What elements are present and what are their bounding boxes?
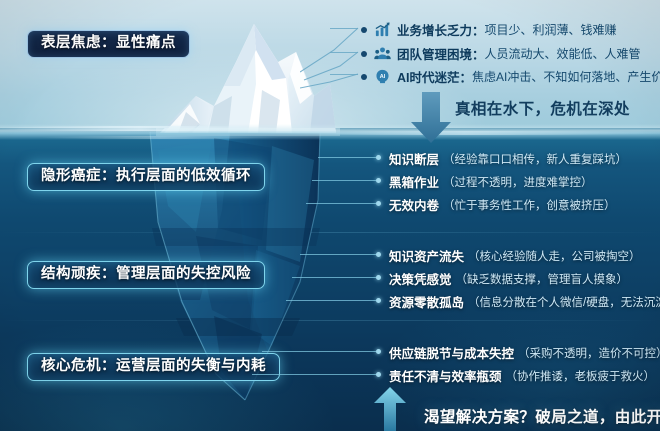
connector-line [306,203,376,204]
connector-dot [376,252,381,257]
growth-chart-icon [374,21,391,38]
arrow-up-icon [370,386,410,431]
structural-point-2[interactable]: 资源零散孤岛 （信息分散在个人微信/硬盘，无法沉淀） [389,292,660,311]
hidden-point-0[interactable]: 知识断层 （经验靠口口相传，新人重复踩坑） [389,149,627,168]
connector-line [312,180,376,181]
core-point-0-title: 供应链脱节与成本失控 [389,343,514,362]
hidden-point-1[interactable]: 黑箱作业 （过程不透明，进度难掌控） [389,172,593,191]
underwater-headline: 真相在水下，危机在深处 [455,97,630,119]
svg-text:AI: AI [380,74,386,80]
connector-line [330,52,358,53]
connector-dot [376,372,381,377]
hidden-point-2[interactable]: 无效内卷 （忙于事务性工作，创意被挤压） [389,195,616,214]
surface-point-1-title: 团队管理困境： [397,44,485,63]
infographic-canvas: 表层焦虑：显性痛点 隐形癌症：执行层面的低效循环 结构顽疾：管理层面的失控风险 … [0,0,660,431]
surface-point-0-title: 业务增长乏力： [397,20,485,39]
hidden-point-1-desc: （过程不透明，进度难掌控） [443,174,593,190]
connector-dot [376,178,381,183]
surface-point-1-desc: 人员流动大、效能低、人难管 [485,45,641,62]
surface-point-0-desc: 项目少、利润薄、钱难赚 [485,21,617,38]
core-point-1[interactable]: 责任不清与效率瓶颈 （协作推诿，老板疲于救火） [389,366,655,385]
arrow-down-icon [409,92,453,144]
structural-point-1-desc: （缺乏数据支撑，管理盲人摸象） [456,271,629,287]
connector-line [262,351,376,352]
connector-line [252,374,376,375]
structural-point-0-desc: （核心经验随人走，公司被掏空） [468,248,641,264]
connector-line [330,74,358,75]
badge-core-crisis[interactable]: 核心危机：运营层面的失衡与内耗 [27,353,280,381]
connector-dot [376,298,381,303]
wave-crest [0,126,290,131]
surface-point-0[interactable]: 业务增长乏力： 项目少、利润薄、钱难赚 [361,20,617,39]
bullet-dot [361,74,367,80]
badge-hidden-cancer-label: 隐形癌症：执行层面的低效循环 [41,169,251,184]
structural-point-0[interactable]: 知识资产流失 （核心经验随人走，公司被掏空） [389,246,641,265]
core-point-1-desc: （协作推诿，老板疲于救火） [506,368,656,384]
connector-line [292,277,376,278]
connector-line [300,254,376,255]
badge-core-crisis-label: 核心危机：运营层面的失衡与内耗 [41,359,266,374]
wave-crest [250,131,660,135]
structural-point-2-title: 资源零散孤岛 [389,292,464,311]
wave-crest [40,136,280,139]
badge-structural-ailment-label: 结构顽疾：管理层面的失控风险 [41,267,251,282]
bullet-dot [361,51,367,57]
surface-point-1[interactable]: 团队管理困境： 人员流动大、效能低、人难管 [361,44,641,63]
core-point-0-desc: （采购不透明，造价不可控） [518,345,660,361]
connector-line [330,28,358,29]
core-point-1-title: 责任不清与效率瓶颈 [389,366,502,385]
structural-point-1[interactable]: 决策凭感觉 （缺乏数据支撑，管理盲人摸象） [389,269,628,288]
structural-point-1-title: 决策凭感觉 [389,269,452,288]
surface-point-2-title: AI时代迷茫： [397,67,472,86]
hidden-point-2-desc: （忙于事务性工作，创意被挤压） [443,197,616,213]
hidden-point-1-title: 黑箱作业 [389,172,439,191]
badge-structural-ailment[interactable]: 结构顽疾：管理层面的失控风险 [27,261,265,289]
connector-dot [376,201,381,206]
core-point-0[interactable]: 供应链脱节与成本失控 （采购不透明，造价不可控） [389,343,660,362]
hidden-point-0-desc: （经验靠口口相传，新人重复踩坑） [443,151,627,167]
connector-dot [376,155,381,160]
surface-point-2[interactable]: AI AI时代迷茫： 焦虑AI冲击、不知如何落地、产生价值 [361,67,660,86]
connector-line [286,300,376,301]
hidden-point-0-title: 知识断层 [389,149,439,168]
surface-point-2-desc: 焦虑AI冲击、不知如何落地、产生价值 [472,68,660,85]
connector-dot [376,349,381,354]
connector-line [318,157,376,158]
badge-surface-anxiety-label: 表层焦虑：显性痛点 [41,36,176,51]
connector-dot [376,275,381,280]
badge-surface-anxiety[interactable]: 表层焦虑：显性痛点 [27,30,190,58]
ai-brain-icon: AI [374,68,391,85]
badge-hidden-cancer[interactable]: 隐形癌症：执行层面的低效循环 [27,163,265,191]
team-people-icon [374,45,391,62]
bullet-dot [361,27,367,33]
cta-tagline: 渴望解决方案？破局之道，由此开启。 [424,405,660,427]
hidden-point-2-title: 无效内卷 [389,195,439,214]
structural-point-2-desc: （信息分散在个人微信/硬盘，无法沉淀） [468,294,660,310]
structural-point-0-title: 知识资产流失 [389,246,464,265]
